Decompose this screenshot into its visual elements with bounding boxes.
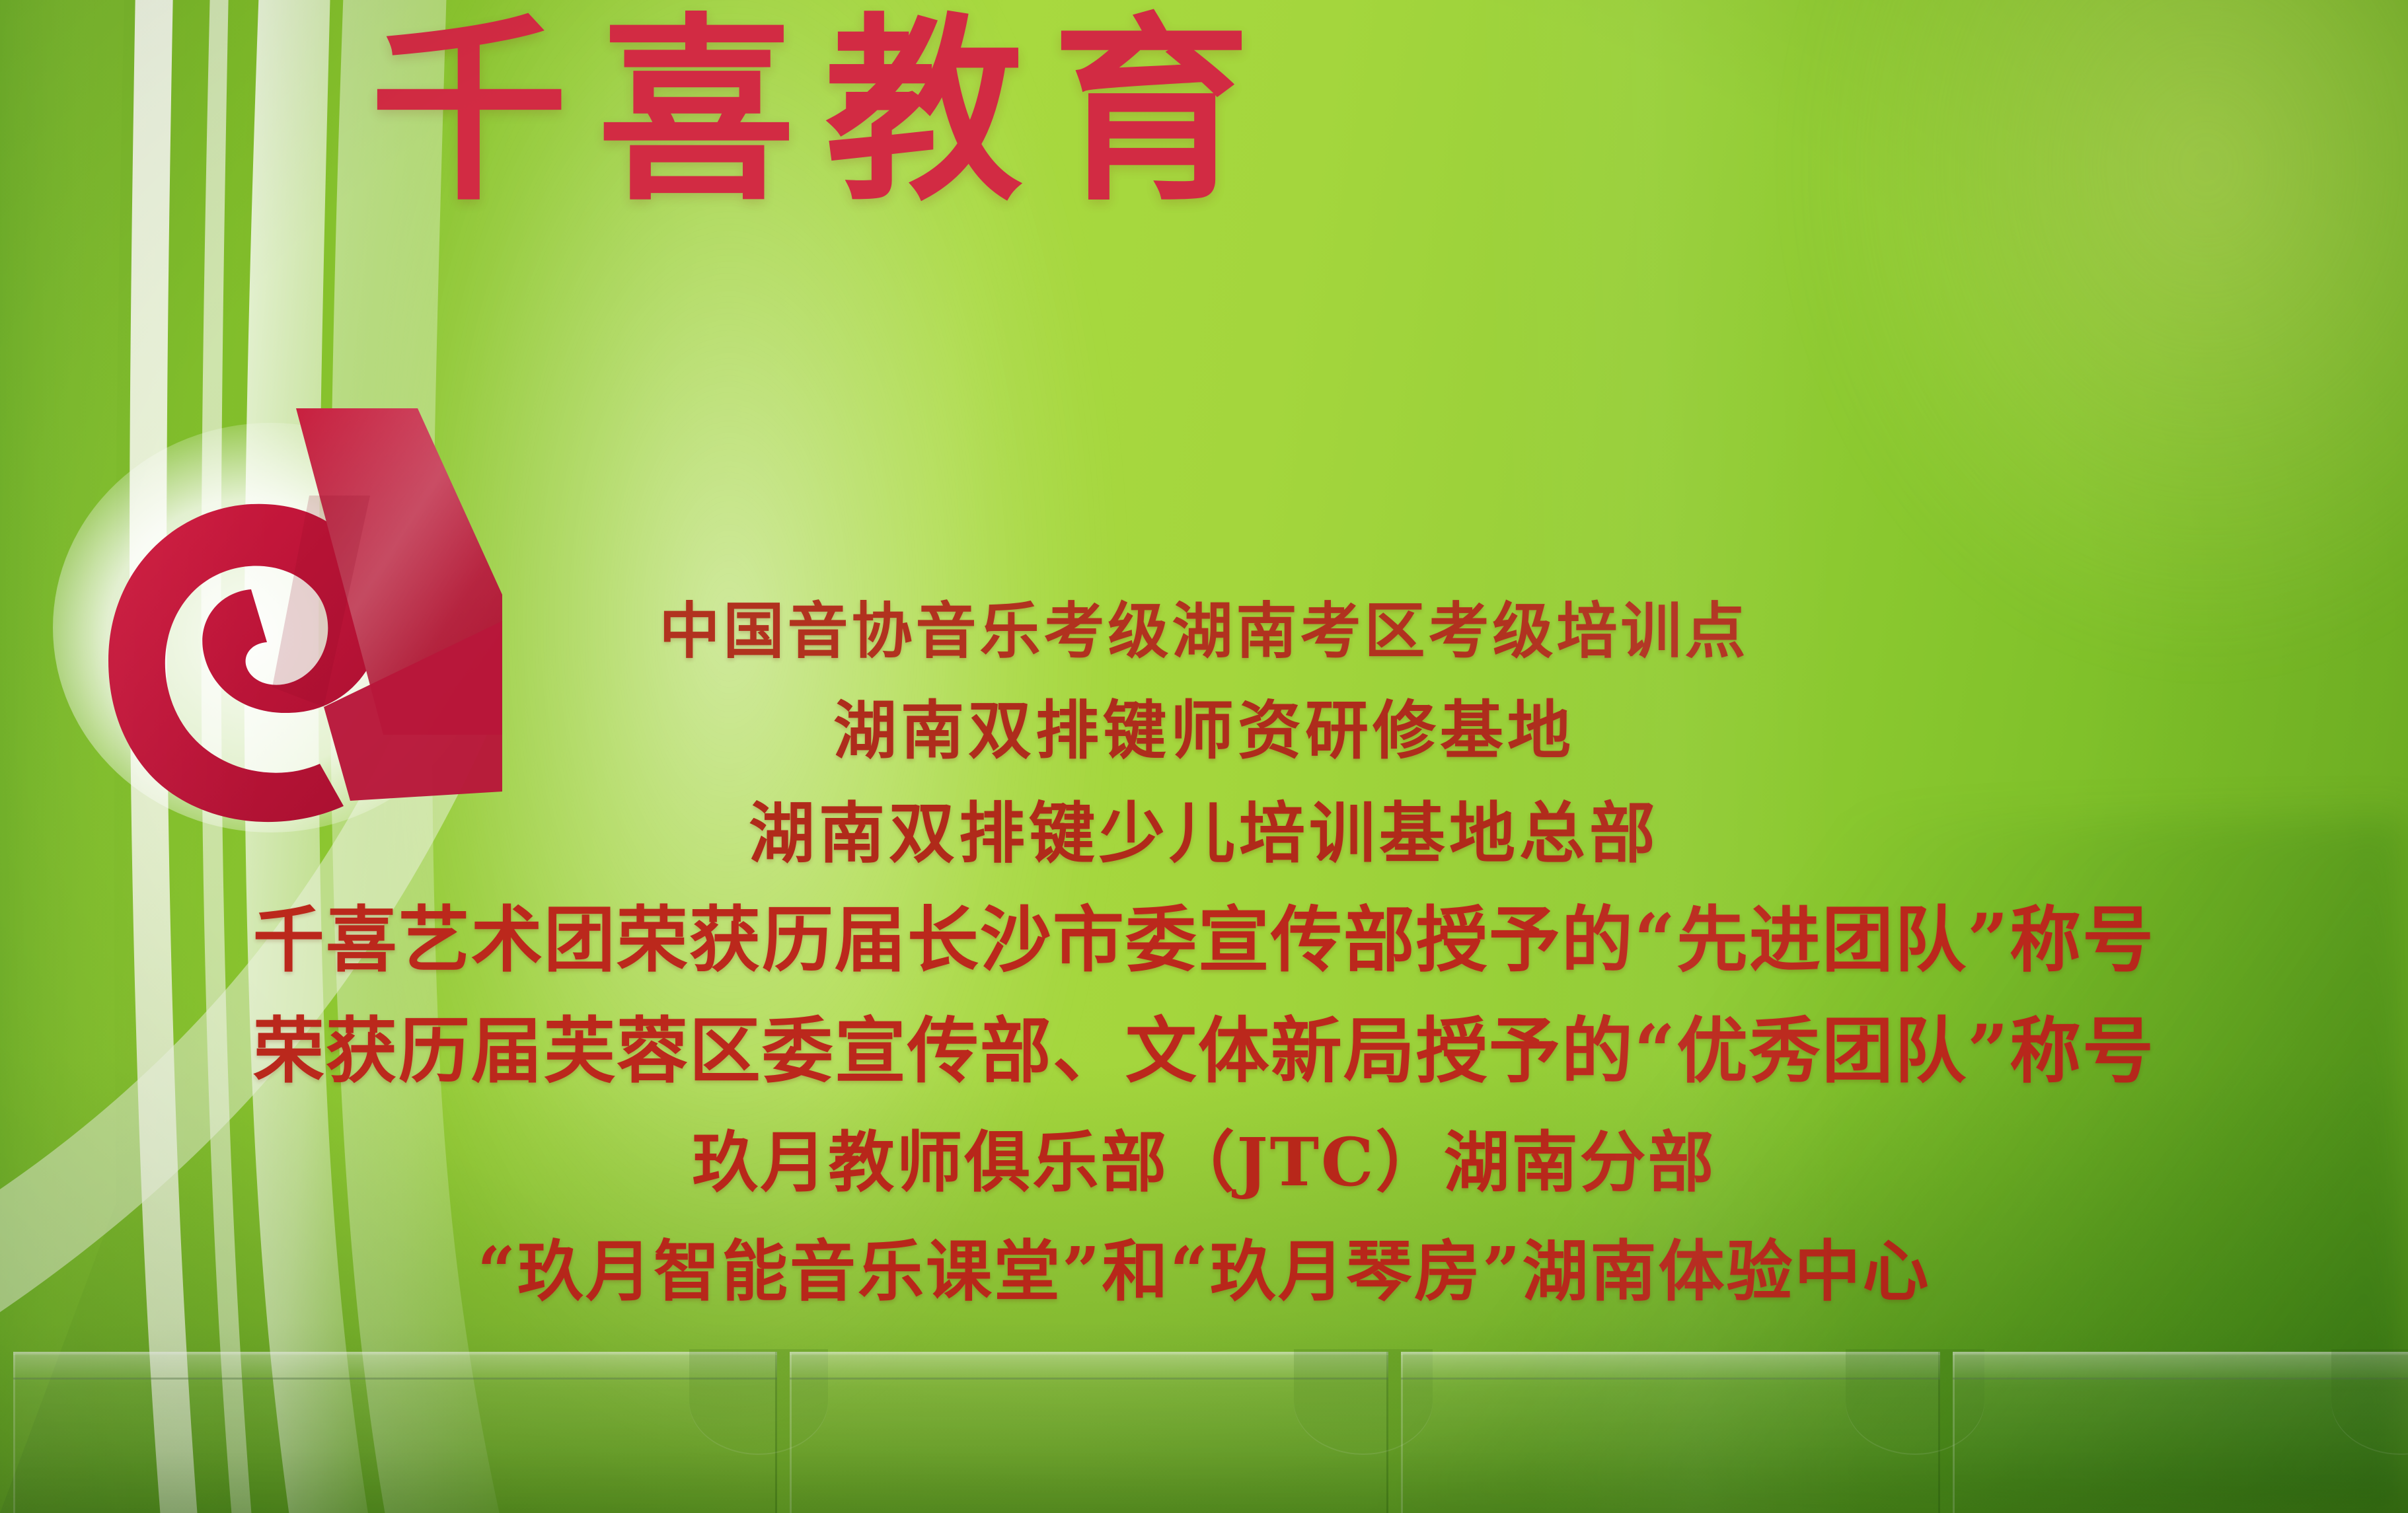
credential-line: 湖南双排键师资研修基地 bbox=[0, 681, 2408, 781]
page-title: 千喜教育 bbox=[370, 12, 2154, 210]
credential-line: 玖月教师俱乐部（JTC）湖南分部 bbox=[0, 1107, 2408, 1217]
credential-text-block: 中国音协音乐考级湖南考区考级培训点 湖南双排键师资研修基地 湖南双排键少儿培训基… bbox=[0, 581, 2408, 1325]
holder-lip bbox=[13, 1352, 777, 1380]
holder-thumb-notch bbox=[2331, 1349, 2408, 1455]
credential-line: 中国音协音乐考级湖南考区考级培训点 bbox=[0, 581, 2408, 681]
credential-line: 湖南双排键少儿培训基地总部 bbox=[0, 781, 2408, 885]
brochure-holder[interactable] bbox=[1401, 1352, 1940, 1513]
brochure-holder[interactable] bbox=[790, 1352, 1388, 1513]
credential-line: “玖月智能音乐课堂”和“玖月琴房”湖南体验中心 bbox=[0, 1217, 2408, 1325]
brochure-holder-row bbox=[0, 1321, 2408, 1513]
credential-line: 荣获历届芙蓉区委宣传部、文体新局授予的“优秀团队”称号 bbox=[0, 995, 2408, 1107]
wall-sign-panel: 千喜教育 中国音协音乐考级湖南考区考级培训点 湖南双排键师资研修基地 湖南双排键… bbox=[0, 0, 2408, 1513]
brochure-holder[interactable] bbox=[1953, 1352, 2408, 1513]
brochure-holder[interactable] bbox=[13, 1352, 777, 1513]
credential-line: 千喜艺术团荣获历届长沙市委宣传部授予的“先进团队”称号 bbox=[0, 885, 2408, 995]
